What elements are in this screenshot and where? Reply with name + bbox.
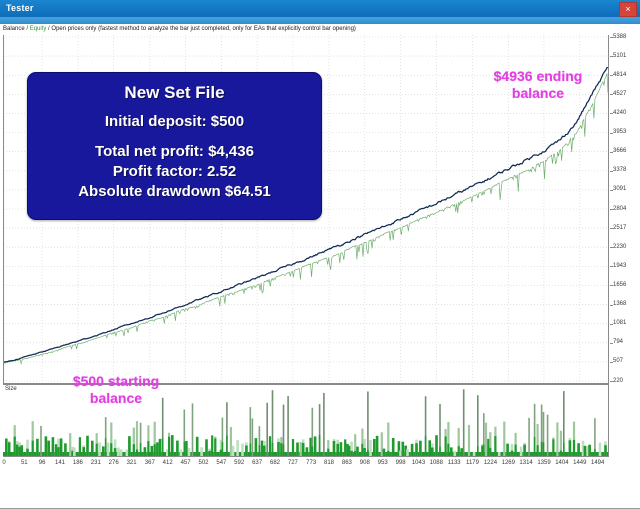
x-axis: 0519614118623127632136741245750254759263… xyxy=(0,456,640,480)
x-axis-tick-label: 818 xyxy=(324,460,334,467)
y-axis-tick-label: 3378 xyxy=(613,167,626,174)
x-axis-tick-label: 908 xyxy=(360,460,370,467)
x-axis-tick-label: 502 xyxy=(198,460,208,467)
legend-equity: Equity xyxy=(30,26,47,32)
x-axis-tick-label: 96 xyxy=(39,460,46,467)
info-absolute-drawdown: Absolute drawdown $64.51 xyxy=(78,182,271,202)
x-axis-tick-label: 0 xyxy=(2,460,5,467)
x-axis-tick-label: 637 xyxy=(252,460,262,467)
y-axis-tick-label: 3953 xyxy=(613,129,626,136)
y-axis-tick-label: 4527 xyxy=(613,91,626,98)
x-axis-tick-label: 231 xyxy=(91,460,101,467)
x-axis-tick-label: 773 xyxy=(306,460,316,467)
x-axis-tick-label: 1314 xyxy=(519,460,532,467)
info-profit-factor: Profit factor: 2.52 xyxy=(113,162,236,182)
x-axis-tick-label: 1133 xyxy=(448,460,461,467)
x-axis-tick-label: 727 xyxy=(288,460,298,467)
chart-area: 5388510148144527424039533666337830912804… xyxy=(0,35,640,480)
x-axis-tick-label: 51 xyxy=(21,460,28,467)
size-panel-label: Size xyxy=(4,385,18,393)
x-axis-tick-label: 367 xyxy=(145,460,155,467)
x-axis-tick-label: 1179 xyxy=(466,460,479,467)
size-panel-right-line xyxy=(608,384,609,457)
x-axis-tick-label: 1494 xyxy=(591,460,604,467)
annotation-starting-balance: $500 starting balance xyxy=(46,373,186,407)
annotation-ending-balance: $4936 ending balance xyxy=(478,68,598,102)
y-axis-tick-label: 3091 xyxy=(613,186,626,193)
x-axis-tick-label: 1269 xyxy=(502,460,515,467)
x-axis-tick-label: 1359 xyxy=(537,460,550,467)
x-axis-tick-label: 457 xyxy=(181,460,191,467)
x-axis-tick-label: 412 xyxy=(163,460,173,467)
window-subbar xyxy=(0,17,640,24)
x-axis-tick-label: 1043 xyxy=(412,460,425,467)
y-axis-tick-label: 5388 xyxy=(613,34,626,41)
x-axis-tick-label: 592 xyxy=(234,460,244,467)
y-axis-left-line xyxy=(3,35,4,383)
info-total-net-profit: Total net profit: $4,436 xyxy=(95,142,254,162)
info-initial-deposit: Initial deposit: $500 xyxy=(105,112,244,131)
y-axis-tick-label: 1368 xyxy=(613,301,626,308)
legend-balance: Balance xyxy=(3,26,25,32)
x-axis-tick-label: 682 xyxy=(270,460,280,467)
y-axis-tick-label: 2230 xyxy=(613,244,626,251)
y-axis-tick-label: 507 xyxy=(613,358,623,365)
y-axis-right-line xyxy=(608,35,609,383)
y-axis-tick-label: 2517 xyxy=(613,225,626,232)
y-axis-tick-label: 1943 xyxy=(613,263,626,270)
x-axis-tick-label: 186 xyxy=(73,460,83,467)
summary-info-box: New Set File Initial deposit: $500 Total… xyxy=(27,72,322,220)
chart-legend-bar: Balance / Equity / Open prices only (fas… xyxy=(0,24,640,35)
x-axis-tick-label: 863 xyxy=(342,460,352,467)
x-axis-tick-label: 1088 xyxy=(430,460,443,467)
y-axis-tick-label: 3666 xyxy=(613,148,626,155)
x-axis-tick-label: 1404 xyxy=(555,460,568,467)
x-axis-tick-label: 998 xyxy=(396,460,406,467)
y-axis-tick-label: 4240 xyxy=(613,110,626,117)
x-axis-tick-label: 276 xyxy=(109,460,119,467)
x-axis-tick-label: 547 xyxy=(216,460,226,467)
window-titlebar: Tester × xyxy=(0,0,640,18)
x-axis-tick-label: 1449 xyxy=(573,460,586,467)
close-icon[interactable]: × xyxy=(619,2,637,17)
x-axis-tick-label: 1224 xyxy=(484,460,497,467)
legend-method-note: Open prices only (fastest method to anal… xyxy=(51,26,356,32)
y-axis-tick-label: 220 xyxy=(613,378,623,385)
y-axis-labels: 5388510148144527424039533666337830912804… xyxy=(610,35,640,387)
y-axis-tick-label: 4814 xyxy=(613,72,626,79)
x-axis-tick-label: 953 xyxy=(378,460,388,467)
y-axis-tick-label: 1656 xyxy=(613,282,626,289)
x-axis-line xyxy=(3,456,609,457)
tester-window: Tester × Balance / Equity / Open prices … xyxy=(0,0,640,480)
y-axis-tick-label: 5101 xyxy=(613,53,626,60)
window-title: Tester xyxy=(6,3,34,14)
info-title: New Set File xyxy=(124,82,224,103)
y-axis-tick-label: 1081 xyxy=(613,320,626,327)
x-axis-tick-label: 321 xyxy=(127,460,137,467)
y-axis-tick-label: 2804 xyxy=(613,206,626,213)
y-axis-tick-label: 794 xyxy=(613,339,623,346)
x-axis-tick-label: 141 xyxy=(55,460,65,467)
